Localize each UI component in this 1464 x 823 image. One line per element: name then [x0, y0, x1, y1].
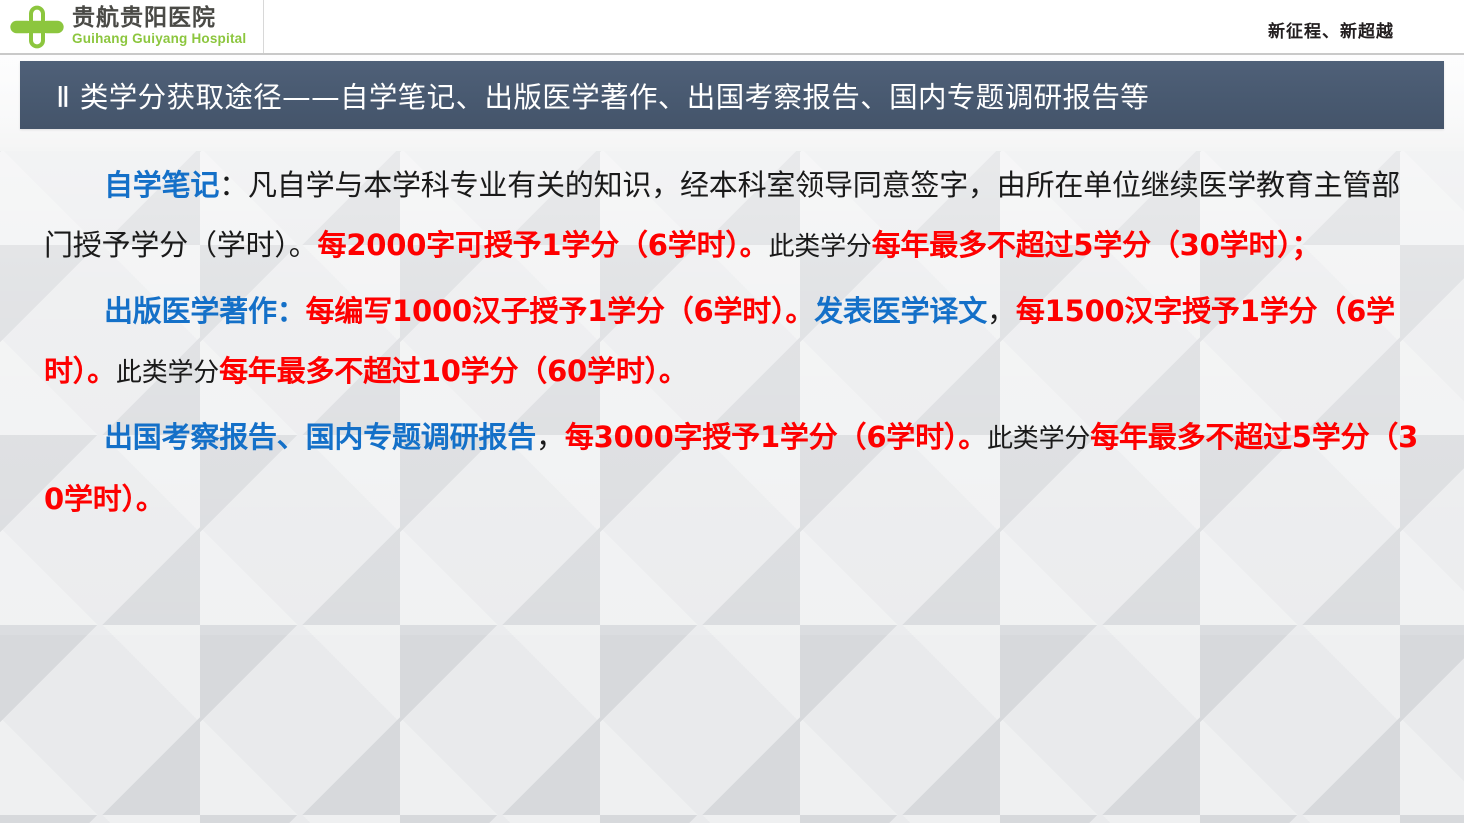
text-run-black-small: 此类学分 — [987, 424, 1090, 454]
text-run-blue: 出版医学著作： — [104, 294, 306, 328]
text-run-black: ， — [987, 294, 1016, 328]
logo-english-name: Guihang Guiyang Hospital — [72, 32, 246, 46]
page-title: Ⅱ 类学分获取途径——自学笔记、出版医学著作、出国考察报告、国内专题调研报告等 — [20, 75, 1149, 116]
paragraph-publish-medical-works: 出版医学著作：每编写1000汉子授予1学分（6学时）。发表医学译文，每1500汉… — [44, 281, 1424, 403]
slide-body: 自学笔记：凡自学与本学科专业有关的知识，经本科室领导同意签字，由所在单位继续医学… — [0, 155, 1464, 529]
text-run-blue: 发表医学译文 — [814, 294, 987, 328]
text-run-black-small: 此类学分 — [769, 232, 872, 262]
text-run-blue: 出国考察报告、国内专题调研报告 — [104, 420, 536, 454]
header-divider — [0, 53, 1464, 55]
text-run-black: ， — [536, 420, 565, 454]
paragraph-self-study-notes: 自学笔记：凡自学与本学科专业有关的知识，经本科室领导同意签字，由所在单位继续医学… — [44, 155, 1424, 277]
green-medical-cross-logo-icon — [8, 3, 66, 51]
slide-header: 贵航贵阳医院 Guihang Guiyang Hospital 新征程、新超越 — [0, 0, 1464, 55]
logo-chinese-name: 贵航贵阳医院 — [72, 7, 246, 30]
text-run-red: 每年最多不超过5学分（30学时）； — [872, 228, 1321, 262]
text-run-black-small: 此类学分 — [116, 358, 219, 388]
text-run-blue: 自学笔记 — [104, 168, 219, 202]
hospital-logo: 贵航贵阳医院 Guihang Guiyang Hospital — [4, 0, 264, 53]
text-run-red: 每编写1000汉子授予1学分（6学时）。 — [306, 294, 815, 328]
header-slogan: 新征程、新超越 — [1268, 17, 1394, 42]
text-run-red: 每年最多不超过10学分（60学时）。 — [219, 354, 688, 388]
slide-title-bar: Ⅱ 类学分获取途径——自学笔记、出版医学著作、出国考察报告、国内专题调研报告等 — [20, 61, 1444, 129]
text-run-red: 每3000字授予1学分（6学时）。 — [565, 420, 987, 454]
slide-canvas: 贵航贵阳医院 Guihang Guiyang Hospital 新征程、新超越 … — [0, 0, 1464, 823]
paragraph-overseas-and-domestic-reports: 出国考察报告、国内专题调研报告，每3000字授予1学分（6学时）。此类学分每年最… — [44, 407, 1424, 529]
text-run-red: 每2000字可授予1学分（6学时）。 — [318, 228, 769, 262]
